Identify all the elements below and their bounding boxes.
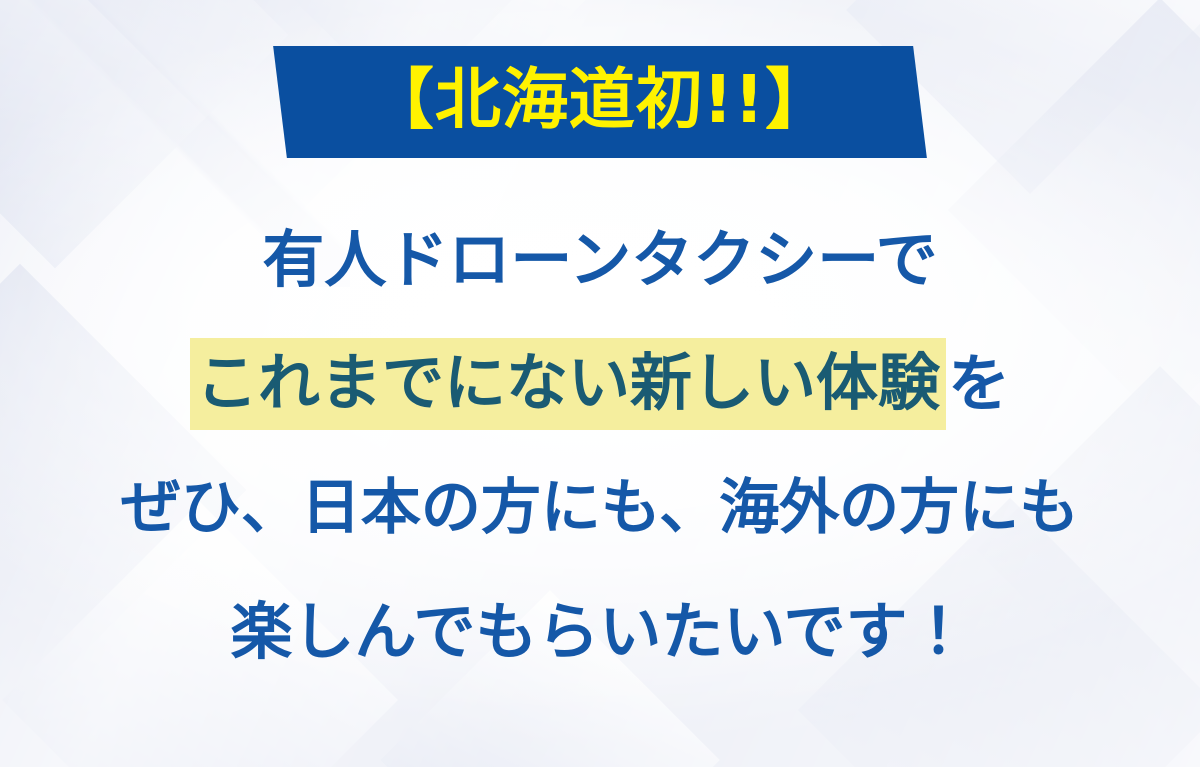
promo-banner-canvas: 【北海道初!!】 有人ドローンタクシーで これまでにない新しい体験を ぜひ、日本… <box>0 0 1200 767</box>
headline-line-4-text: 楽しんでもらいたいです！ <box>230 601 969 663</box>
headline-line-1-text: 有人ドローンタクシーで <box>262 229 937 291</box>
banner-label: 【北海道初!!】 <box>368 67 832 137</box>
headline-line-2: これまでにない新しい体験を <box>190 322 1010 446</box>
headline-line-2-tail: を <box>946 353 1010 415</box>
headline-line-3: ぜひ、日本の方にも、海外の方にも <box>121 446 1079 570</box>
headline-line-1: 有人ドローンタクシーで <box>262 198 937 322</box>
headline-line-3-text: ぜひ、日本の方にも、海外の方にも <box>121 478 1079 538</box>
hokkaido-first-banner: 【北海道初!!】 <box>280 46 920 158</box>
headline-line-2-highlight: これまでにない新しい体験 <box>190 338 946 430</box>
headline-line-4: 楽しんでもらいたいです！ <box>230 570 969 694</box>
headline-block: 有人ドローンタクシーで これまでにない新しい体験を ぜひ、日本の方にも、海外の方… <box>0 198 1200 694</box>
banner-row: 【北海道初!!】 <box>0 46 1200 164</box>
